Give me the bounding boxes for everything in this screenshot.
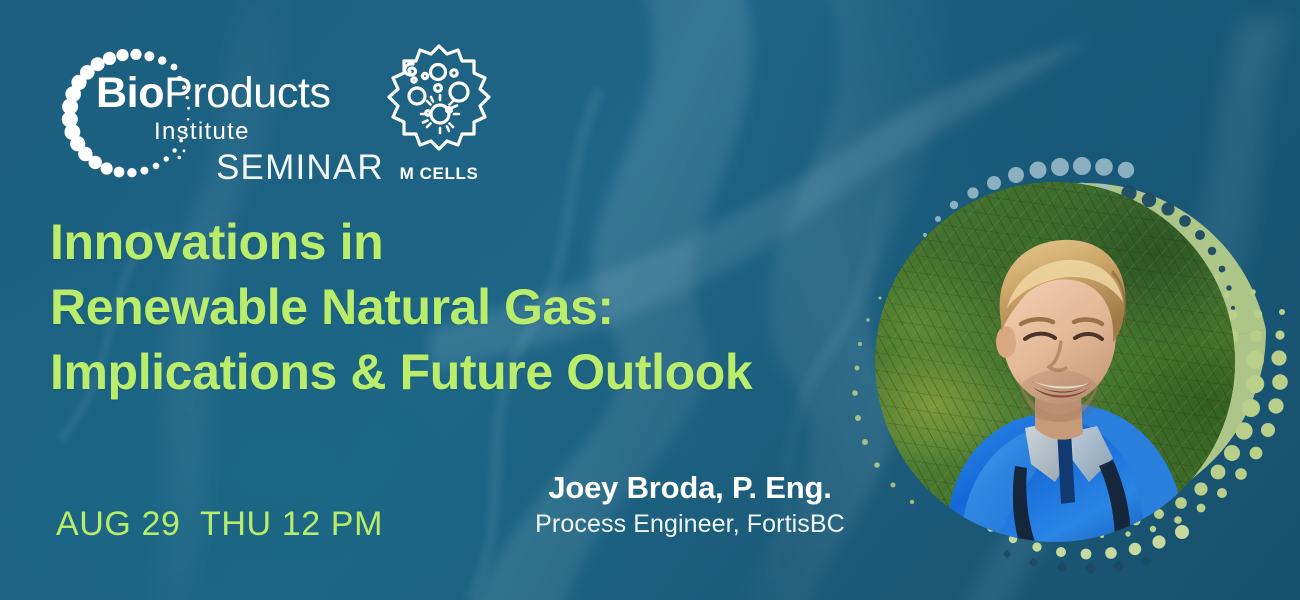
bpi-word-bio: Bio xyxy=(96,69,164,117)
page-title: Innovations in Renewable Natural Gas: Im… xyxy=(50,210,752,405)
speaker-role: Process Engineer, FortisBC xyxy=(470,509,910,540)
speaker-block: Joey Broda, P. Eng. Process Engineer, Fo… xyxy=(470,470,910,540)
mcells-label: M CELLS xyxy=(381,164,497,184)
bpi-word-products: Products xyxy=(164,69,331,117)
mcells-logo: M CELLS xyxy=(381,40,497,192)
seminar-label: SEMINAR xyxy=(216,148,384,188)
gear-cells-icon xyxy=(381,40,497,160)
bioproducts-wordmark: BioProducts Institute xyxy=(96,72,331,146)
photo-person xyxy=(875,182,1235,542)
event-datetime: AUG 29 THU 12 PM xyxy=(56,505,383,544)
bpi-word-institute: Institute xyxy=(154,118,331,146)
seminar-banner: BioProducts Institute SEMINAR xyxy=(0,0,1300,600)
speaker-photo xyxy=(875,182,1235,542)
speaker-name: Joey Broda, P. Eng. xyxy=(470,470,910,507)
portrait-group xyxy=(846,108,1300,588)
